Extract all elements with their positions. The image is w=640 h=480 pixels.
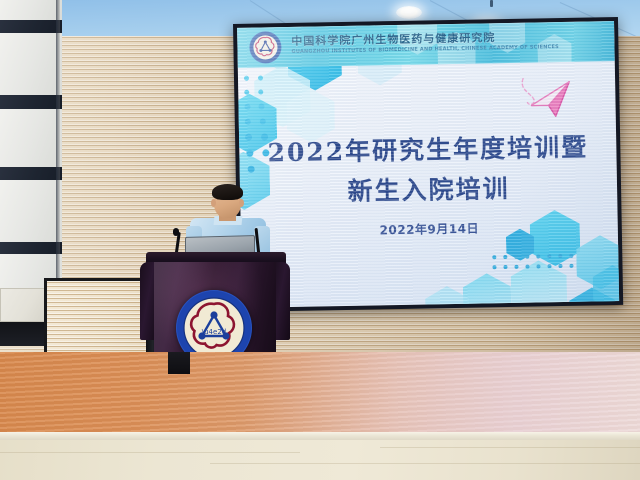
stage-floor-reflection [0, 352, 640, 444]
presentation-slide: 中国科学院广州生物医药与健康研究院 GUANGZHOU INSTITUTES O… [237, 21, 619, 308]
projection-screen[interactable]: 中国科学院广州生物医药与健康研究院 GUANGZHOU INSTITUTES O… [233, 17, 623, 312]
stage-edge-lip [0, 432, 640, 440]
cas-gibh-emblem [249, 31, 282, 64]
paper-plane-icon [519, 72, 574, 121]
presenter-ear [211, 199, 216, 207]
decor-hexagon [463, 273, 512, 308]
conference-hall-photo: 中国科学院广州生物医药与健康研究院 GUANGZHOU INSTITUTES O… [0, 0, 640, 480]
slide-title-line2: 新生入院培训 [240, 167, 618, 210]
decor-dot-grid [492, 254, 578, 278]
left-wall-panels [0, 0, 62, 300]
left-wall-marble-plate [0, 288, 46, 322]
slide-title-line1: 2022年研究生年度培训暨 [239, 127, 617, 170]
svg-text:\u4e2d: \u4e2d [202, 328, 226, 336]
presenter-ear [239, 199, 244, 207]
microphone-head [173, 228, 179, 236]
ceiling-fixture [490, 0, 493, 7]
presenter-hair [212, 184, 243, 200]
recessed-downlight [396, 6, 422, 19]
stage-dark-skirt [168, 352, 190, 374]
slide-header-band: 中国科学院广州生物医药与健康研究院 GUANGZHOU INSTITUTES O… [237, 21, 615, 68]
stage-front-face [0, 440, 640, 480]
left-wall-dark-recess [0, 318, 48, 346]
